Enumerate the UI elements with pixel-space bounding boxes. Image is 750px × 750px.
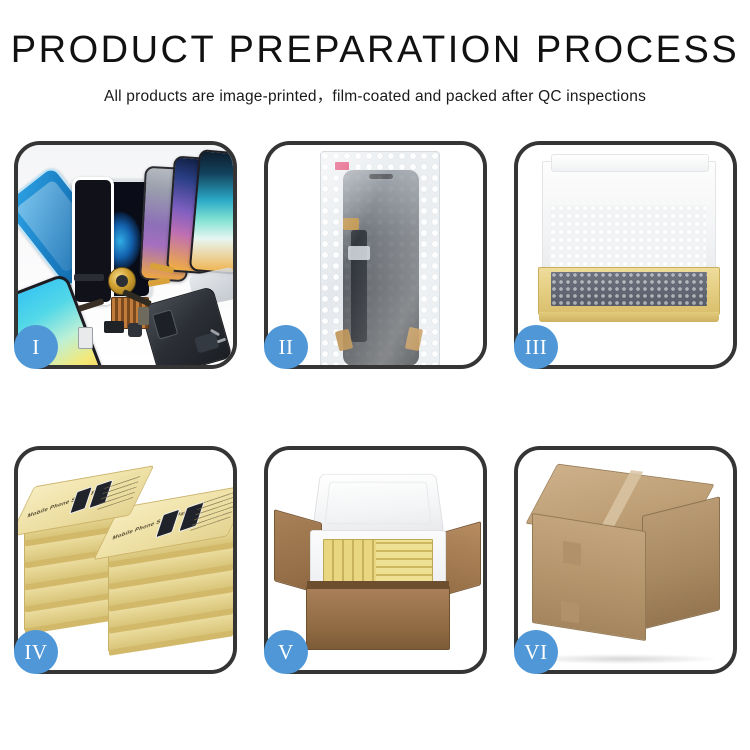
carton-notch-icon [563,541,581,566]
box-stack-icon: Mobile Phone Spare Parts Mobile Phone Sp… [20,468,233,658]
process-step-panel-1: I [14,141,237,369]
page-subtitle: All products are image-printed，film-coat… [0,84,750,106]
copper-coil-icon [108,267,136,295]
process-step-panel-2: II [264,141,487,369]
process-step-panel-6: VI [514,446,737,674]
flex-cable-icon [74,274,104,281]
bubble-wrap-bag-icon [320,151,440,365]
spec-text-lines [97,472,141,510]
step-badge-1: I [14,325,58,369]
small-part-icon [138,307,149,325]
bubble-wrapped-contents-icon [551,272,707,306]
page-header: PRODUCT PREPARATION PROCESS All products… [0,0,750,106]
small-part-icon [128,323,142,337]
infographic-page: PRODUCT PREPARATION PROCESS All products… [0,0,750,750]
step-badge-6: VI [514,630,558,674]
step-badge-3: III [514,325,558,369]
carton-notch-icon [561,601,579,624]
foam-lid-icon [312,474,445,534]
carton-front-icon [306,586,450,650]
yellow-boxes-inside-icon [323,539,433,583]
tray-lip [539,312,719,322]
plastic-sheen-overlay [321,152,439,365]
yellow-box-tray-icon [538,267,720,315]
spec-text-lines [190,491,233,531]
page-title: PRODUCT PREPARATION PROCESS [0,30,750,72]
step-badge-2: II [264,325,308,369]
carton-front-face-icon [532,513,646,641]
process-step-panel-5: V [264,446,487,674]
step-badge-5: V [264,630,308,674]
speaker-module-icon [104,321,124,333]
process-step-panel-4: Mobile Phone Spare Parts Mobile Phone Sp… [14,446,237,674]
foam-sheet-icon [550,205,706,267]
small-part-icon [78,327,93,349]
process-step-grid: I II [14,141,736,674]
step-badge-4: IV [14,630,58,674]
white-frame-screen-icon [72,177,114,305]
process-step-panel-3: III [514,141,737,369]
carton-side-face-icon [642,496,720,629]
